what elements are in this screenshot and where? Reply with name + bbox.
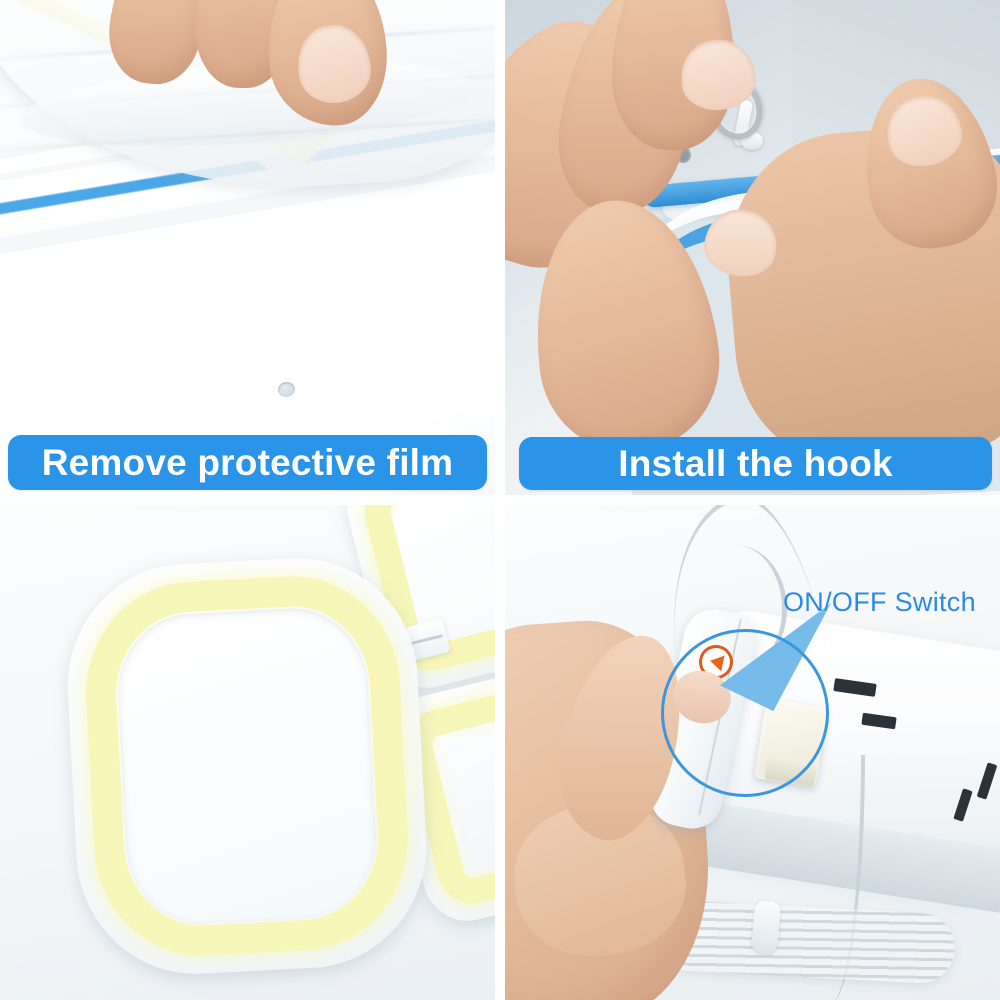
highlight-circle — [661, 629, 829, 797]
panel-bright-cob-light-strip[interactable]: Bright COB light strip — [0, 505, 495, 1000]
panel-usb-plug[interactable]: ON/OFF Switch USB plug — [505, 505, 1000, 1000]
cable-tie — [751, 900, 781, 954]
photo-remove-protective-film — [0, 0, 495, 495]
on-off-switch-label: ON/OFF Switch — [783, 587, 976, 618]
instruction-collage: Remove protective film — [0, 0, 1000, 1000]
photo-usb-plug: ON/OFF Switch — [505, 505, 1000, 1000]
caption-install-the-hook: Install the hook — [519, 437, 992, 490]
cob-ring-center — [114, 605, 380, 928]
caption-remove-protective-film: Remove protective film — [8, 435, 487, 490]
photo-install-the-hook — [505, 0, 1000, 495]
panel-remove-protective-film[interactable]: Remove protective film — [0, 0, 495, 495]
photo-bright-cob-light-strip — [0, 505, 495, 1000]
panel-install-the-hook[interactable]: Install the hook — [505, 0, 1000, 495]
